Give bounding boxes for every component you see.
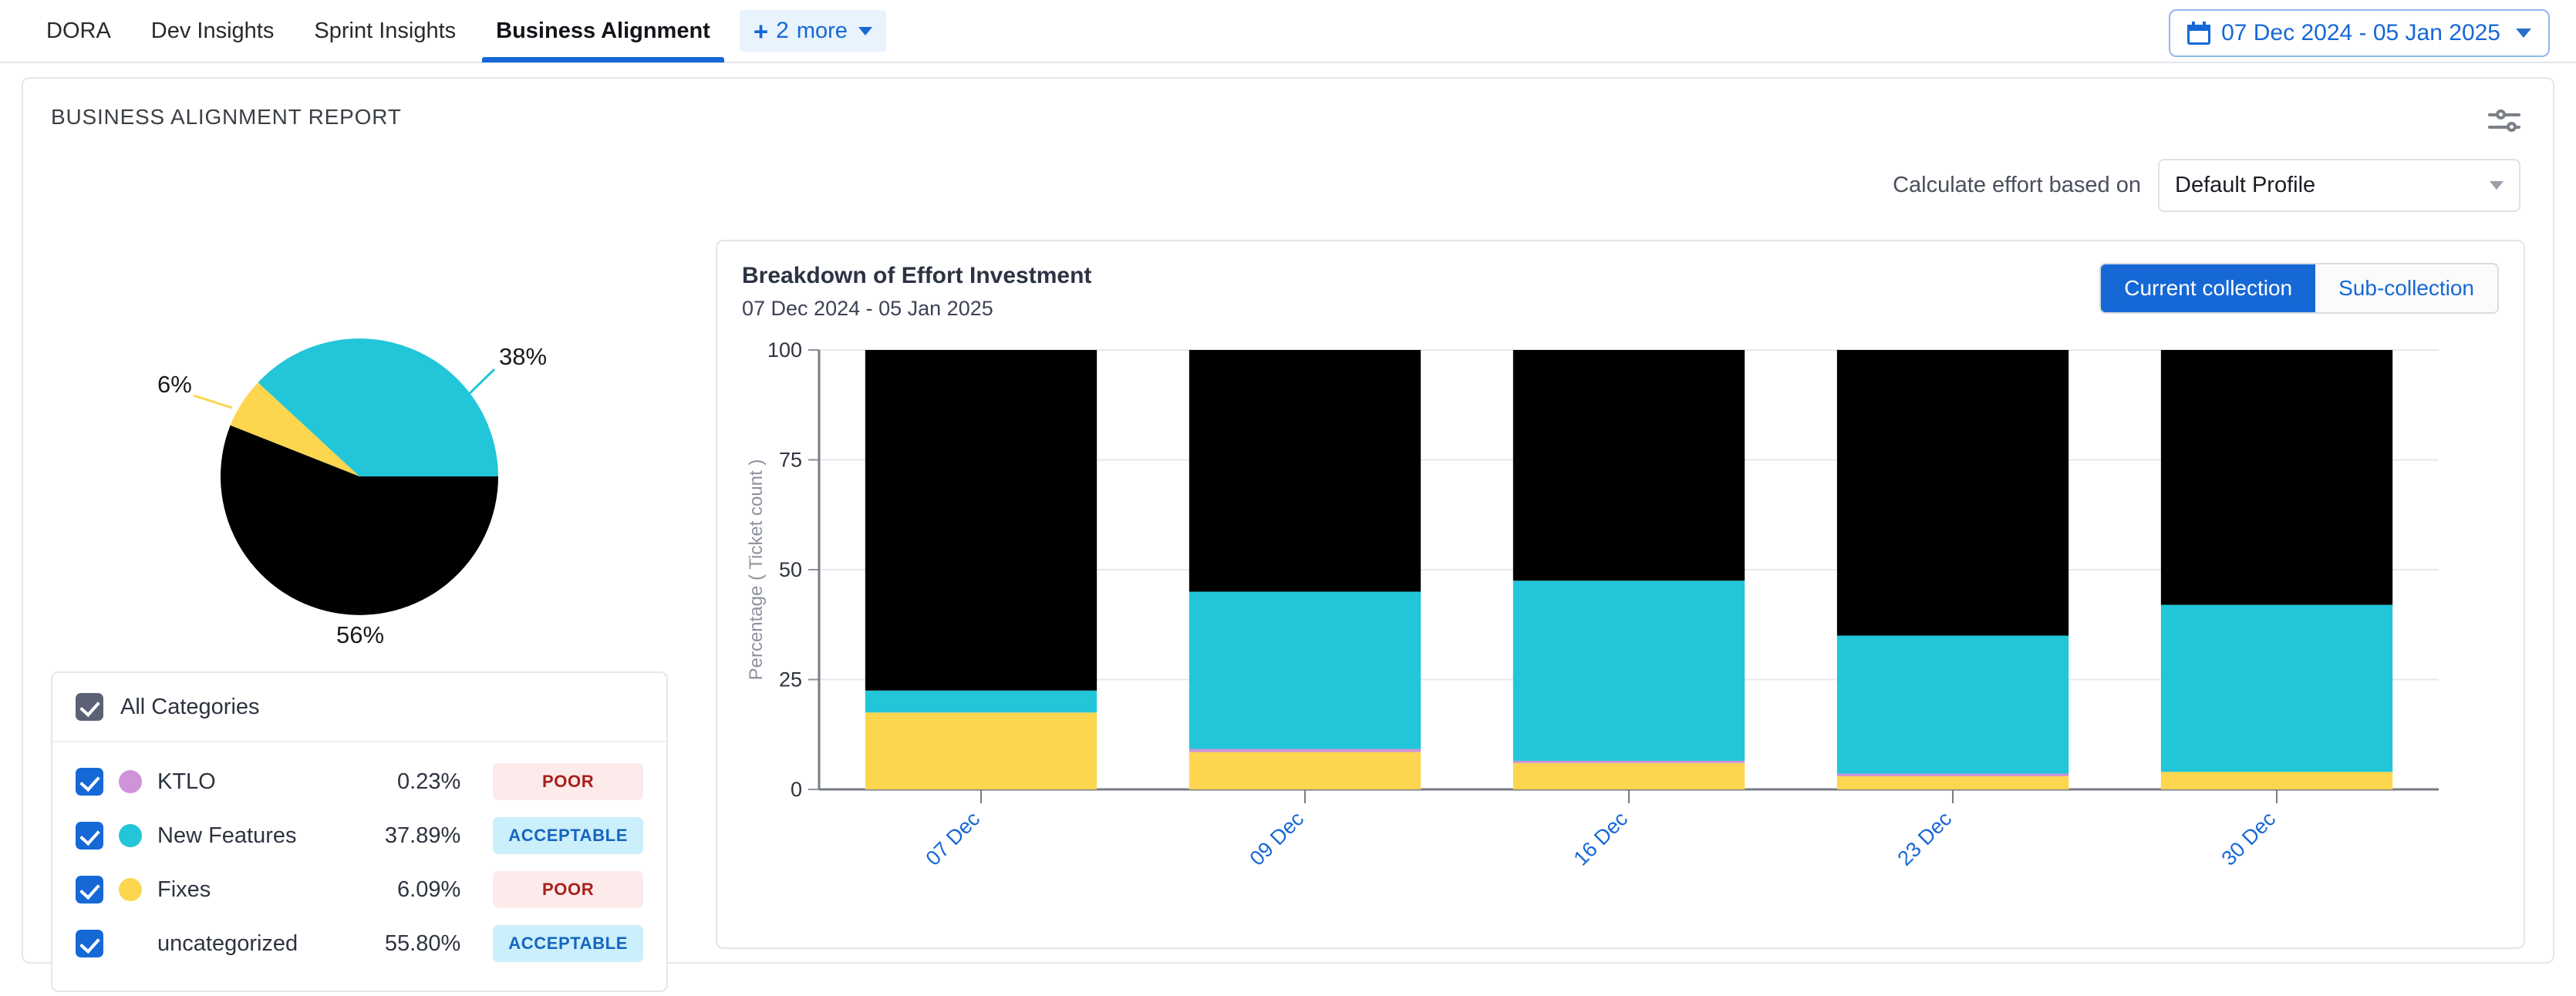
calendar-icon bbox=[2187, 22, 2210, 45]
segment-current-collection[interactable]: Current collection bbox=[2101, 264, 2315, 312]
tab-business-alignment-label: Business Alignment bbox=[496, 19, 710, 44]
report-content: 38% 6% 56% All Categories KTLO bbox=[51, 240, 2525, 992]
tab-sprint-insights[interactable]: Sprint Insights bbox=[294, 0, 476, 62]
legend-checkbox-new-features[interactable] bbox=[76, 822, 103, 850]
bar-segment[interactable] bbox=[865, 691, 1097, 713]
list-item[interactable]: KTLO 0.23% POOR bbox=[52, 755, 666, 809]
status-badge-new-features: ACCEPTABLE bbox=[493, 817, 643, 854]
bar-segment[interactable] bbox=[1837, 776, 2069, 789]
legend-pct-new-features: 37.89% bbox=[360, 823, 460, 849]
bar-segment[interactable] bbox=[1513, 763, 1745, 789]
bar-segment[interactable] bbox=[1189, 592, 1421, 749]
chevron-down-icon bbox=[2490, 181, 2504, 190]
legend-pct-fixes: 6.09% bbox=[360, 877, 460, 903]
bar-segment[interactable] bbox=[2161, 772, 2392, 789]
tab-dev-insights-label: Dev Insights bbox=[151, 19, 275, 44]
page-body: BUSINESS ALIGNMENT REPORT Calculate effo… bbox=[0, 63, 2576, 964]
y-tick-label: 0 bbox=[791, 778, 802, 801]
bar-segment[interactable] bbox=[1513, 580, 1745, 761]
legend-checkbox-uncategorized[interactable] bbox=[76, 930, 103, 957]
legend-name-new-features: New Features bbox=[157, 823, 345, 849]
effort-breakdown-card: Breakdown of Effort Investment 07 Dec 20… bbox=[716, 240, 2525, 949]
color-dot-fixes bbox=[119, 878, 142, 901]
bar-segment[interactable] bbox=[1189, 749, 1421, 752]
segment-sub-collection[interactable]: Sub-collection bbox=[2315, 264, 2497, 312]
legend-name-fixes: Fixes bbox=[157, 877, 345, 903]
more-tabs-button[interactable]: + 2 more bbox=[740, 10, 886, 52]
color-dot-uncategorized bbox=[119, 932, 142, 955]
list-item[interactable]: Fixes 6.09% POOR bbox=[52, 863, 666, 917]
y-tick-label: 75 bbox=[779, 449, 802, 472]
right-column: Breakdown of Effort Investment 07 Dec 20… bbox=[716, 240, 2525, 949]
legend-name-ktlo: KTLO bbox=[157, 769, 345, 795]
y-tick-label: 25 bbox=[779, 668, 802, 691]
date-range-value: 07 Dec 2024 - 05 Jan 2025 bbox=[2221, 20, 2500, 46]
tab-dev-insights[interactable]: Dev Insights bbox=[131, 0, 295, 62]
y-axis-label: Percentage ( Ticket count ) bbox=[746, 459, 767, 681]
pie-leader-line-6 bbox=[194, 395, 232, 408]
bar-segment[interactable] bbox=[1513, 761, 1745, 763]
effort-profile-row: Calculate effort based on Default Profil… bbox=[51, 159, 2525, 212]
top-navigation-bar: DORA Dev Insights Sprint Insights Busine… bbox=[0, 0, 2576, 63]
status-badge-uncategorized: ACCEPTABLE bbox=[493, 925, 643, 962]
x-tick-label: 30 Dec bbox=[2217, 807, 2281, 870]
chart-subtitle: 07 Dec 2024 - 05 Jan 2025 bbox=[742, 297, 1091, 321]
legend-pct-uncategorized: 55.80% bbox=[360, 931, 460, 957]
page-title: BUSINESS ALIGNMENT REPORT bbox=[51, 105, 2525, 130]
more-label: more bbox=[797, 19, 848, 44]
left-column: 38% 6% 56% All Categories KTLO bbox=[51, 240, 683, 992]
bar-segment[interactable] bbox=[1513, 350, 1745, 580]
pie-leader-line-38 bbox=[464, 369, 494, 399]
chart-heading-group: Breakdown of Effort Investment 07 Dec 20… bbox=[742, 263, 1091, 321]
tab-sprint-insights-label: Sprint Insights bbox=[314, 19, 456, 44]
all-categories-row[interactable]: All Categories bbox=[52, 673, 666, 742]
collection-toggle-group: Current collection Sub-collection bbox=[2099, 263, 2499, 314]
bar-segment[interactable] bbox=[865, 350, 1097, 691]
pie-label-38: 38% bbox=[499, 343, 547, 370]
bar-segment[interactable] bbox=[865, 712, 1097, 789]
tab-business-alignment[interactable]: Business Alignment bbox=[476, 0, 730, 62]
list-item[interactable]: uncategorized 55.80% ACCEPTABLE bbox=[52, 917, 666, 971]
chart-header: Breakdown of Effort Investment 07 Dec 20… bbox=[742, 263, 2499, 321]
legend-checkbox-fixes[interactable] bbox=[76, 876, 103, 903]
more-count: 2 bbox=[776, 18, 789, 44]
date-range-picker[interactable]: 07 Dec 2024 - 05 Jan 2025 bbox=[2169, 9, 2550, 57]
y-tick-label: 100 bbox=[767, 342, 802, 362]
stacked-bar-svg: Percentage ( Ticket count )025507510007 … bbox=[742, 342, 2446, 928]
all-categories-label: All Categories bbox=[120, 695, 260, 720]
bar-segment[interactable] bbox=[1837, 773, 2069, 776]
color-dot-ktlo bbox=[119, 770, 142, 793]
effort-pie-chart: 38% 6% 56% bbox=[51, 240, 683, 671]
all-categories-checkbox[interactable] bbox=[76, 693, 103, 721]
chevron-down-icon bbox=[858, 27, 872, 35]
status-badge-ktlo: POOR bbox=[493, 763, 643, 800]
bar-segment[interactable] bbox=[2161, 605, 2392, 772]
tab-dora[interactable]: DORA bbox=[26, 0, 131, 62]
stacked-bar-chart: Percentage ( Ticket count )025507510007 … bbox=[742, 342, 2499, 928]
x-tick-label: 09 Dec bbox=[1246, 807, 1309, 870]
x-tick-label: 07 Dec bbox=[922, 807, 985, 870]
category-legend-card: All Categories KTLO 0.23% POOR New Featu… bbox=[51, 671, 668, 992]
legend-name-uncategorized: uncategorized bbox=[157, 931, 345, 957]
plus-icon: + bbox=[754, 19, 768, 44]
x-tick-label: 16 Dec bbox=[1570, 807, 1633, 870]
list-item[interactable]: New Features 37.89% ACCEPTABLE bbox=[52, 809, 666, 863]
bar-segment[interactable] bbox=[1837, 350, 2069, 636]
settings-sliders-icon[interactable] bbox=[2488, 108, 2520, 134]
effort-profile-value: Default Profile bbox=[2175, 173, 2315, 198]
bar-segment[interactable] bbox=[1189, 752, 1421, 789]
bar-segment[interactable] bbox=[1837, 636, 2069, 774]
tab-list: DORA Dev Insights Sprint Insights Busine… bbox=[26, 0, 730, 62]
pie-label-6: 6% bbox=[157, 371, 192, 398]
x-tick-label: 23 Dec bbox=[1893, 807, 1957, 870]
y-tick-label: 50 bbox=[779, 558, 802, 581]
chart-title: Breakdown of Effort Investment bbox=[742, 263, 1091, 289]
status-badge-fixes: POOR bbox=[493, 871, 643, 908]
effort-label: Calculate effort based on bbox=[1893, 173, 2141, 198]
bar-segment[interactable] bbox=[2161, 350, 2392, 605]
bar-segment[interactable] bbox=[1189, 350, 1421, 592]
effort-profile-select[interactable]: Default Profile bbox=[2158, 159, 2520, 212]
tab-dora-label: DORA bbox=[46, 19, 111, 44]
business-alignment-report-card: BUSINESS ALIGNMENT REPORT Calculate effo… bbox=[22, 77, 2554, 964]
pie-label-56: 56% bbox=[336, 621, 384, 648]
color-dot-new-features bbox=[119, 824, 142, 847]
chevron-down-icon bbox=[2516, 29, 2531, 38]
legend-checkbox-ktlo[interactable] bbox=[76, 768, 103, 796]
pie-svg: 38% 6% 56% bbox=[74, 247, 614, 664]
legend-pct-ktlo: 0.23% bbox=[360, 769, 460, 795]
